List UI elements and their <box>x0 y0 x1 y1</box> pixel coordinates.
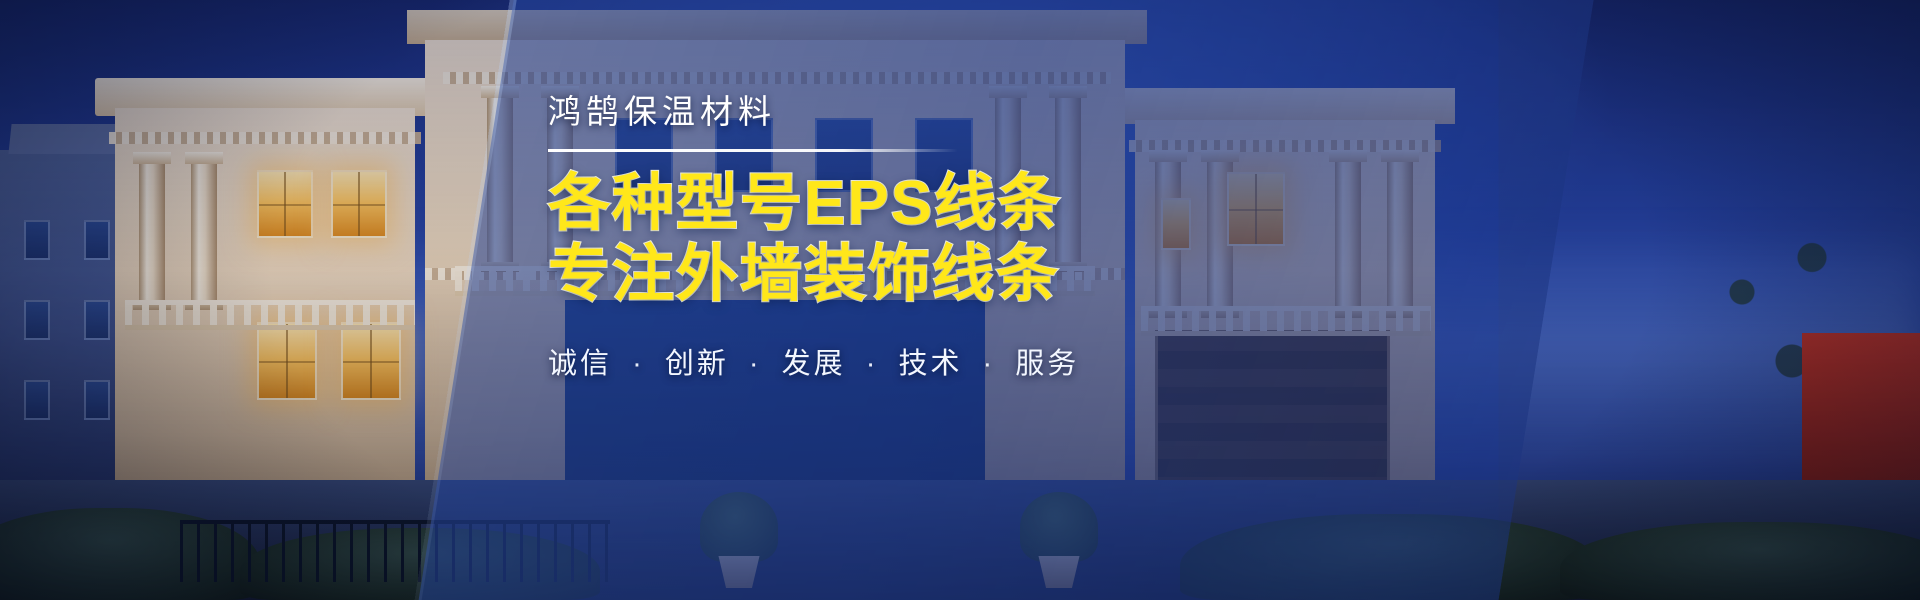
headline-line-1: 各种型号EPS线条 <box>548 171 1408 237</box>
divider-rule <box>548 149 958 152</box>
tagline: 诚信 · 创新 · 发展 · 技术 · 服务 <box>548 340 1408 382</box>
tagline-item: 创新 <box>665 348 729 380</box>
tagline-separator: · <box>866 348 879 380</box>
tagline-item: 诚信 <box>548 348 612 380</box>
headline-line-2: 专注外墙装饰线条 <box>548 242 1408 308</box>
tagline-item: 服务 <box>1015 348 1079 380</box>
headline: 各种型号EPS线条 专注外墙装饰线条 <box>548 171 1408 308</box>
brand-name: 鸿鹄保温材料 <box>548 92 1408 132</box>
tagline-separator: · <box>983 348 996 380</box>
tagline-item: 发展 <box>782 348 846 380</box>
tagline-separator: · <box>632 348 645 380</box>
hero-banner: 鸿鹄保温材料 各种型号EPS线条 专注外墙装饰线条 诚信 · 创新 · 发展 ·… <box>0 0 1920 600</box>
tagline-separator: · <box>749 348 762 380</box>
banner-copy: 鸿鹄保温材料 各种型号EPS线条 专注外墙装饰线条 诚信 · 创新 · 发展 ·… <box>548 92 1408 382</box>
tagline-item: 技术 <box>898 348 962 380</box>
